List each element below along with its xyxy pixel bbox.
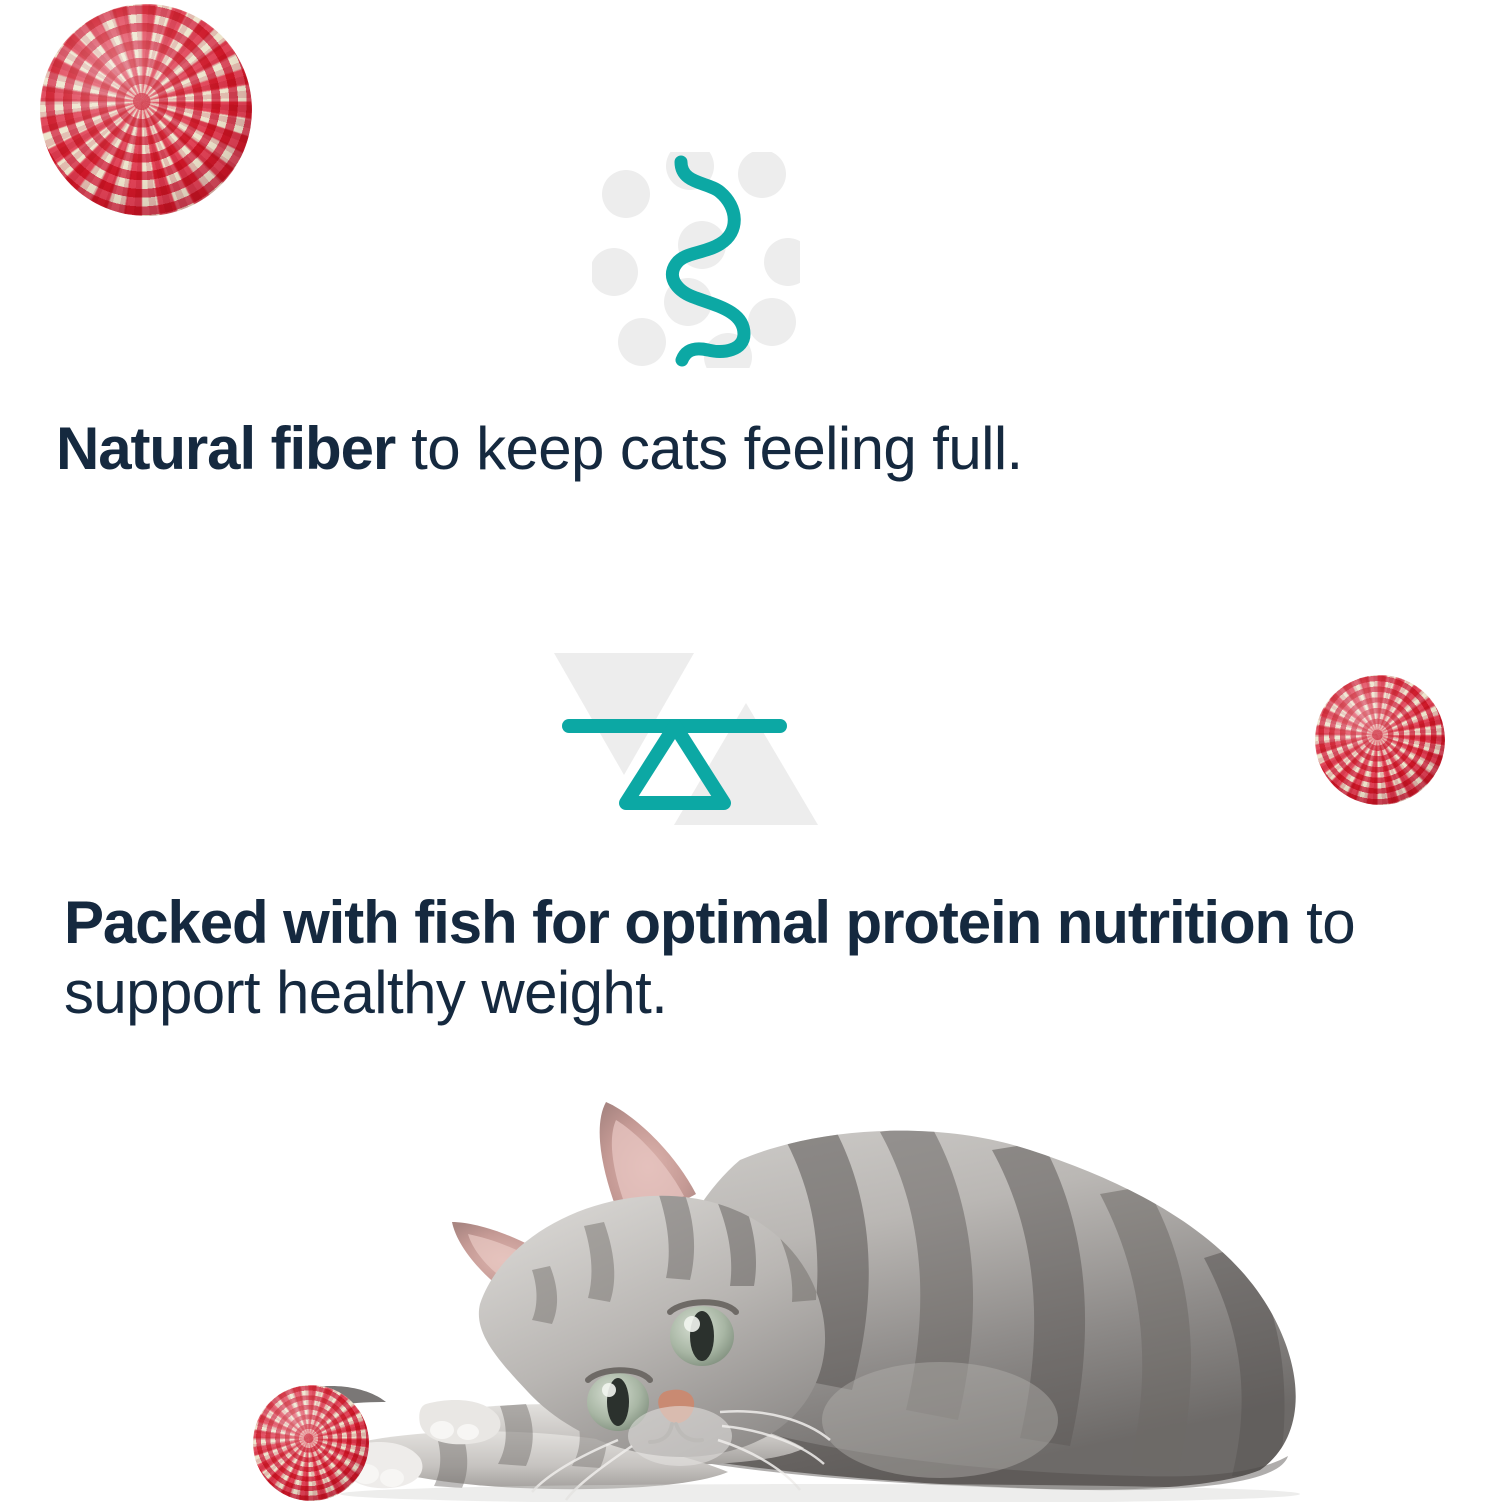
ball-shading	[1315, 675, 1445, 805]
sisal-ball-right	[1315, 675, 1445, 805]
sisal-ball-top-left	[40, 4, 252, 216]
fiber-squiggle-icon	[592, 152, 800, 368]
headline-fiber-rest: to keep cats feeling full.	[395, 415, 1023, 482]
headline-protein-bold: Packed with fish for optimal protein nut…	[64, 889, 1290, 956]
ball-shading	[253, 1385, 369, 1501]
headline-protein: Packed with fish for optimal protein nut…	[64, 888, 1444, 1027]
ball-shading	[40, 4, 252, 216]
headline-fiber-bold: Natural fiber	[56, 415, 395, 482]
decor-triangle-down	[554, 653, 694, 775]
balance-scale-icon	[528, 625, 868, 870]
headline-fiber: Natural fiber to keep cats feeling full.	[56, 414, 1456, 484]
sisal-ball-bottom-left	[253, 1385, 369, 1501]
promo-page: Natural fiber to keep cats feeling full.…	[0, 0, 1500, 1500]
cat-haunch	[822, 1362, 1058, 1478]
